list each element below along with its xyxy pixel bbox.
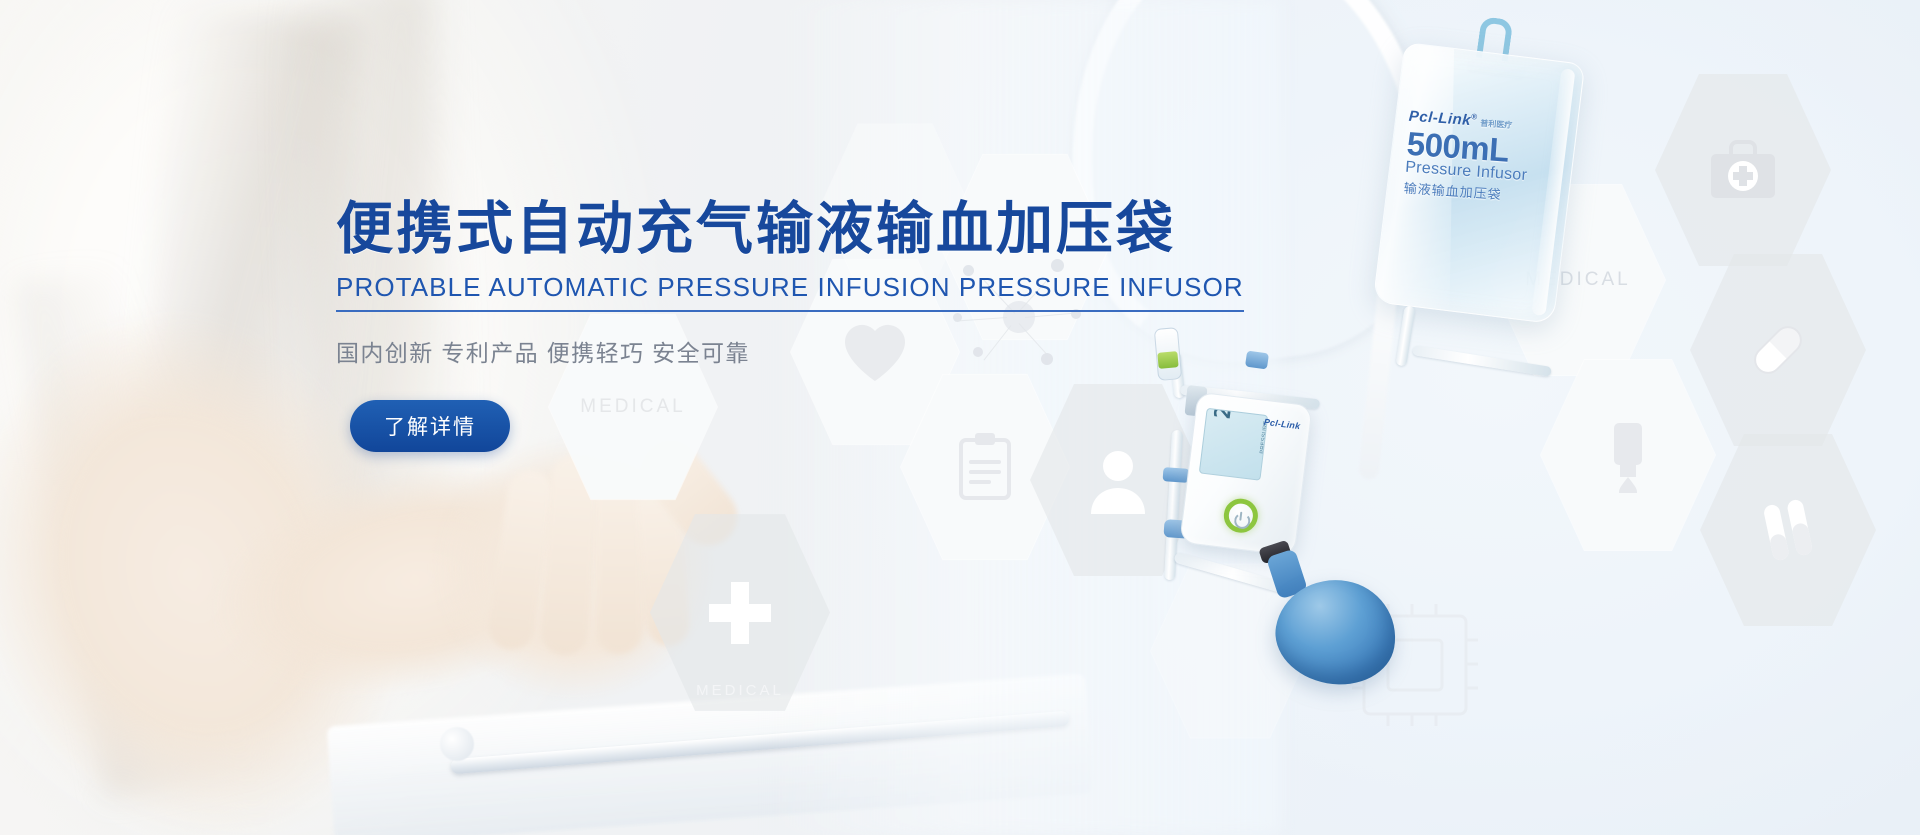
- feature-tagline: 国内创新 专利产品 便携轻巧 安全可靠: [336, 334, 1056, 368]
- rod-tip: [440, 727, 474, 761]
- hero-banner: MEDICAL: [0, 0, 1920, 835]
- bag-label: Pcl-Link®普利医疗 500mL Pressure Infusor 输液输…: [1403, 108, 1551, 206]
- banner-content: 便携式自动充气输液输血加压袋 PROTABLE AUTOMATIC PRESSU…: [336, 196, 1056, 452]
- device-power-button[interactable]: [1222, 497, 1260, 535]
- registered-mark: ®: [1471, 112, 1478, 121]
- learn-more-button[interactable]: 了解详情: [350, 400, 510, 452]
- power-icon: [1239, 511, 1242, 520]
- subtitle-english: PROTABLE AUTOMATIC PRESSURE INFUSION PRE…: [336, 272, 1244, 312]
- iv-tube-segment: [1395, 306, 1415, 367]
- pressure-controller-device: 298mmHg PRESSURE Pcl-Link: [1179, 391, 1313, 556]
- tube-connector: [1245, 351, 1269, 370]
- page-title: 便携式自动充气输液输血加压袋: [336, 196, 1056, 262]
- lcd-pressure-value: 298: [1211, 408, 1241, 421]
- device-lcd-screen: 298mmHg PRESSURE: [1199, 408, 1269, 481]
- bag-brand-cn: 普利医疗: [1480, 119, 1513, 130]
- finger: [596, 462, 642, 654]
- lcd-reading: 298mmHg: [1211, 408, 1244, 421]
- iv-tube-segment: [1412, 345, 1552, 377]
- pressure-infusion-bag: Pcl-Link®普利医疗 500mL Pressure Infusor 输液输…: [1373, 42, 1586, 324]
- device-brand: Pcl-Link: [1263, 417, 1301, 431]
- drip-chamber-indicator: [1157, 351, 1178, 369]
- tube-connector: [1163, 467, 1190, 483]
- product-image: Pcl-Link®普利医疗 500mL Pressure Infusor 输液输…: [1060, 0, 1620, 835]
